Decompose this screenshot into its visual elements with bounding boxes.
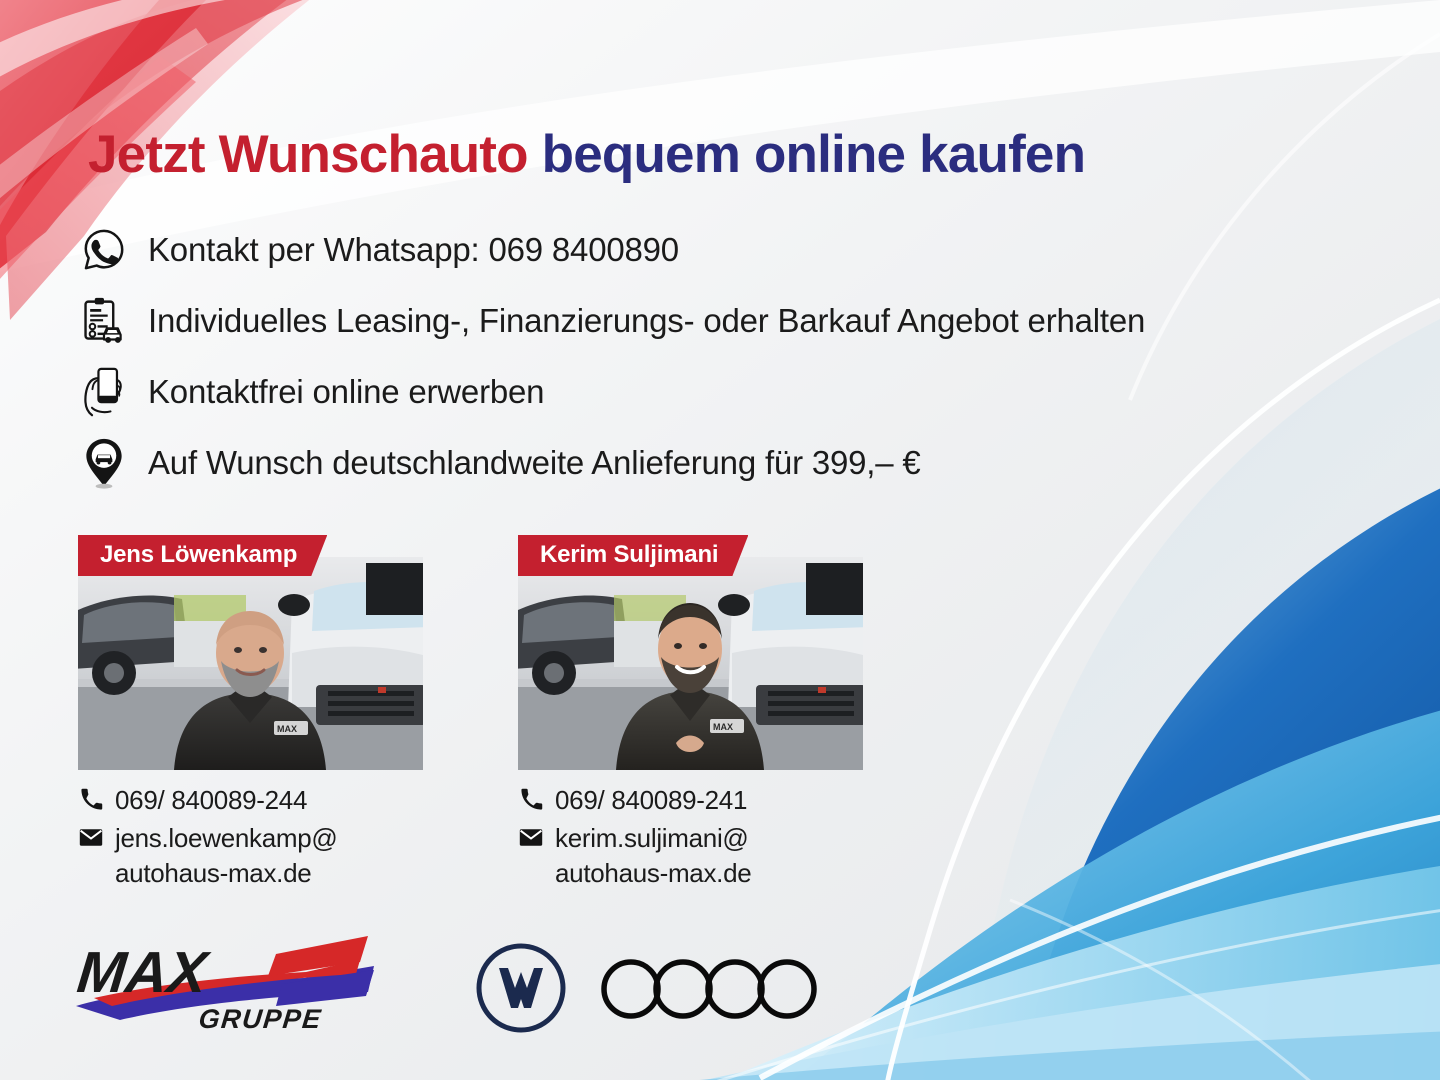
max-wordmark: MAX <box>74 940 213 1005</box>
avatar: MAX <box>518 557 863 770</box>
envelope-icon <box>78 821 104 853</box>
email-address: kerim.suljimani@ autohaus-max.de <box>555 821 751 890</box>
list-item: Kontaktfrei online erwerben <box>78 356 1348 427</box>
staff-contact: 069/ 840089-244 jens.loewenkamp@ autohau… <box>78 783 438 894</box>
phone-icon <box>78 783 104 815</box>
email-address: jens.loewenkamp@ autohaus-max.de <box>115 821 337 890</box>
gruppe-wordmark: GRUPPE <box>197 1003 323 1034</box>
list-item-label: Kontakt per Whatsapp: 069 8400890 <box>148 231 679 269</box>
hand-phone-icon <box>78 364 130 420</box>
benefits-list: Kontakt per Whatsapp: 069 8400890 <box>78 214 1348 498</box>
list-item: Individuelles Leasing-, Finanzierungs- o… <box>78 285 1348 356</box>
staff-name-badge: Kerim Suljimani <box>518 535 748 576</box>
volkswagen-logo <box>475 942 567 1034</box>
email-line-1: kerim.suljimani@ <box>555 823 749 853</box>
email-line-2: autohaus-max.de <box>115 856 337 890</box>
promo-banner: Jetzt Wunschauto bequem online kaufen Ko… <box>0 0 1440 1080</box>
email-line-2: autohaus-max.de <box>555 856 751 890</box>
list-item: Kontakt per Whatsapp: 069 8400890 <box>78 214 1348 285</box>
phone-icon <box>518 783 544 815</box>
email-line-1: jens.loewenkamp@ <box>115 823 337 853</box>
phone-line[interactable]: 069/ 840089-244 <box>78 783 438 817</box>
svg-text:MAX: MAX <box>713 722 733 732</box>
logo-row: MAX GRUPPE <box>60 928 820 1046</box>
list-item-label: Auf Wunsch deutschlandweite Anlieferung … <box>148 444 921 482</box>
headline-red: Jetzt Wunschauto <box>88 125 528 184</box>
phone-number: 069/ 840089-241 <box>555 783 747 817</box>
svg-text:MAX: MAX <box>277 724 297 734</box>
whatsapp-icon <box>78 222 130 278</box>
page-title: Jetzt Wunschauto bequem online kaufen <box>88 126 1085 184</box>
staff-contact: 069/ 840089-241 kerim.suljimani@ autohau… <box>518 783 878 894</box>
staff-name-badge: Jens Löwenkamp <box>78 535 327 576</box>
list-item-label: Individuelles Leasing-, Finanzierungs- o… <box>148 302 1145 340</box>
email-line[interactable]: jens.loewenkamp@ autohaus-max.de <box>78 821 438 890</box>
avatar: MAX <box>78 557 423 770</box>
phone-number: 069/ 840089-244 <box>115 783 307 817</box>
email-line[interactable]: kerim.suljimani@ autohaus-max.de <box>518 821 878 890</box>
list-item-label: Kontaktfrei online erwerben <box>148 373 544 411</box>
headline-blue: bequem online kaufen <box>542 125 1086 184</box>
envelope-icon <box>518 821 544 853</box>
audi-logo <box>600 958 830 1020</box>
map-pin-car-icon <box>78 435 130 491</box>
staff-section: Jens Löwenkamp <box>78 535 1078 915</box>
list-item: Auf Wunsch deutschlandweite Anlieferung … <box>78 427 1348 498</box>
clipboard-car-icon <box>78 293 130 349</box>
max-gruppe-logo: MAX GRUPPE <box>68 932 378 1038</box>
phone-line[interactable]: 069/ 840089-241 <box>518 783 878 817</box>
